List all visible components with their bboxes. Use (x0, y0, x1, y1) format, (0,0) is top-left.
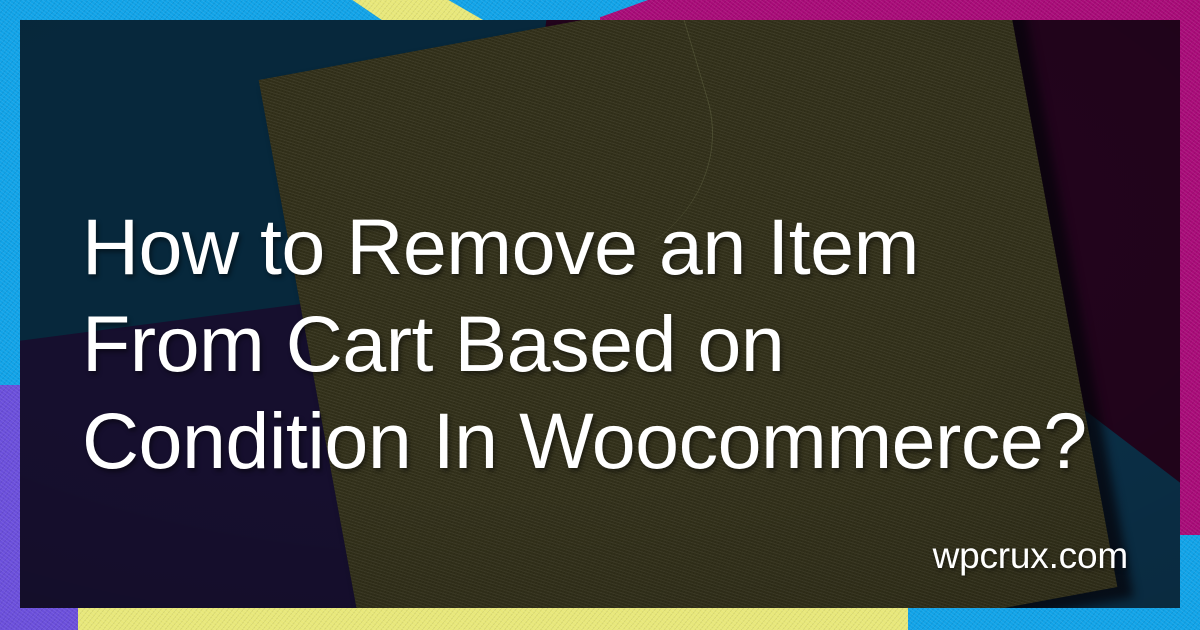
share-card-canvas: How to Remove an Item From Cart Based on… (0, 0, 1200, 630)
page-title: How to Remove an Item From Cart Based on… (82, 198, 1092, 489)
dark-inner-panel: How to Remove an Item From Cart Based on… (20, 20, 1180, 608)
site-url-label: wpcrux.com (933, 537, 1128, 574)
